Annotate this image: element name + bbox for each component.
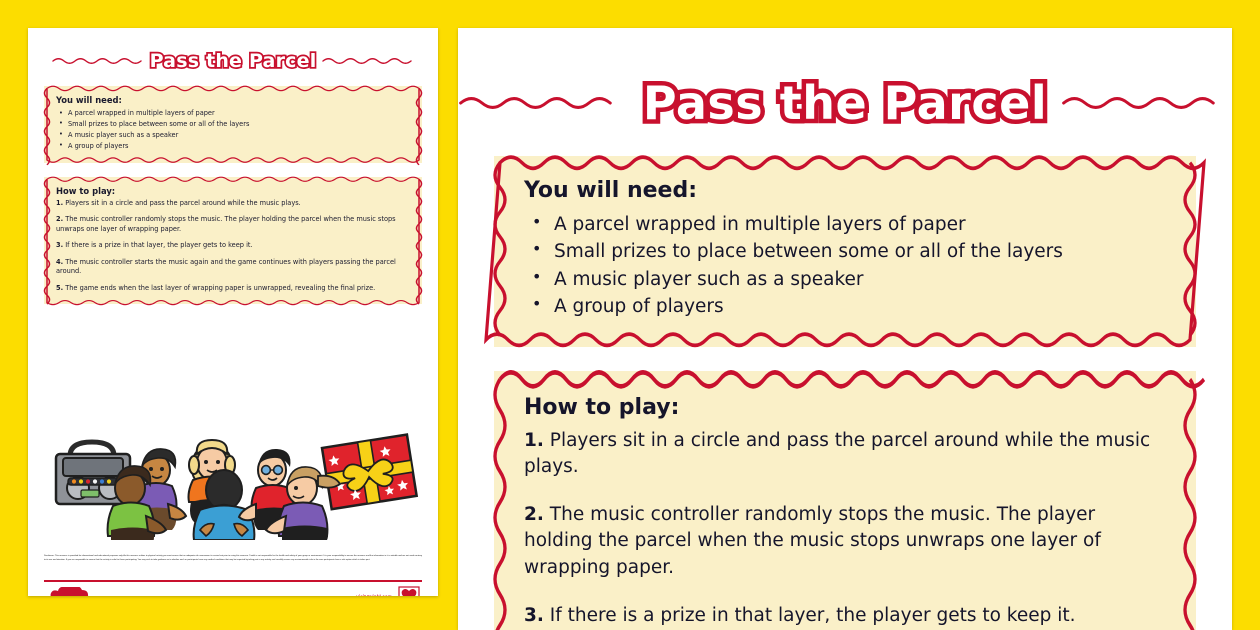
step-number: 3. — [56, 241, 63, 249]
gift-box-icon — [322, 435, 417, 510]
step-text: The music controller starts the music ag… — [56, 258, 396, 276]
materials-heading: You will need: — [524, 178, 1166, 203]
list-item: Small prizes to place between some or al… — [56, 119, 410, 130]
step-number: 5. — [56, 284, 63, 292]
page-title: Pass the Parcel — [643, 76, 1047, 130]
wavy-line-right-icon — [1061, 91, 1232, 115]
twinkl-award-badge-icon — [398, 586, 420, 596]
list-item: A music player such as a speaker — [56, 130, 410, 141]
main-title-row: Pass the Parcel — [458, 76, 1232, 130]
instruction-step: 4. The music controller starts the music… — [56, 258, 410, 277]
document-preview-panel[interactable]: Pass the Parcel You will need: A parcel … — [458, 28, 1232, 630]
step-text: The game ends when the last layer of wra… — [65, 284, 375, 292]
list-item: A music player such as a speaker — [524, 266, 1166, 293]
page-title: Pass the Parcel — [150, 50, 317, 72]
instruction-step: 3. If there is a prize in that layer, th… — [56, 241, 410, 251]
instructions-heading: How to play: — [524, 395, 1166, 420]
twinkl-logo-icon: twinkl — [48, 587, 94, 596]
step-number: 1. — [524, 430, 544, 451]
wavy-line-left-icon — [458, 91, 629, 115]
step-number: 4. — [56, 258, 63, 266]
list-item: A group of players — [56, 141, 410, 152]
thumbnail-materials-box: You will need: A parcel wrapped in multi… — [44, 86, 422, 163]
instructions-heading: How to play: — [56, 186, 410, 196]
step-text: Players sit in a circle and pass the par… — [524, 430, 1150, 477]
instruction-step: 1. Players sit in a circle and pass the … — [56, 199, 410, 209]
instruction-step: 2. The music controller randomly stops t… — [524, 502, 1166, 581]
wavy-line-right-icon — [322, 56, 414, 66]
step-number: 1. — [56, 199, 63, 207]
instruction-step: 5. The game ends when the last layer of … — [56, 284, 410, 294]
materials-heading: You will need: — [56, 95, 410, 105]
instruction-step: 3. If there is a prize in that layer, th… — [524, 603, 1166, 629]
visit-link[interactable]: visit twinkl.com — [356, 594, 392, 596]
step-text: The music controller randomly stops the … — [56, 215, 396, 233]
thumbnail-title-row: Pass the Parcel — [28, 50, 438, 72]
step-number: 2. — [524, 504, 544, 525]
document-thumbnail-card[interactable]: Pass the Parcel You will need: A parcel … — [28, 28, 438, 596]
materials-box: You will need: A parcel wrapped in multi… — [494, 156, 1196, 347]
instructions-box: How to play: 1. Players sit in a circle … — [494, 371, 1196, 630]
illustration-children-circle — [50, 410, 420, 540]
wavy-line-left-icon — [52, 56, 144, 66]
list-item: Small prizes to place between some or al… — [524, 238, 1166, 265]
step-text: Players sit in a circle and pass the par… — [65, 199, 301, 207]
instruction-step: 1. Players sit in a circle and pass the … — [524, 428, 1166, 481]
step-text: The music controller randomly stops the … — [524, 504, 1101, 578]
list-item: A group of players — [524, 293, 1166, 320]
disclaimer-text: Disclaimer: This resource is provided fo… — [44, 555, 422, 562]
instruction-step: 2. The music controller randomly stops t… — [56, 215, 410, 234]
footer-divider — [44, 580, 422, 582]
step-text: If there is a prize in that layer, the p… — [65, 241, 252, 249]
thumbnail-instructions-box: How to play: 1. Players sit in a circle … — [44, 177, 422, 305]
step-number: 2. — [56, 215, 63, 223]
list-item: A parcel wrapped in multiple layers of p… — [56, 108, 410, 119]
list-item: A parcel wrapped in multiple layers of p… — [524, 211, 1166, 238]
step-text: If there is a prize in that layer, the p… — [550, 605, 1076, 626]
step-number: 3. — [524, 605, 544, 626]
